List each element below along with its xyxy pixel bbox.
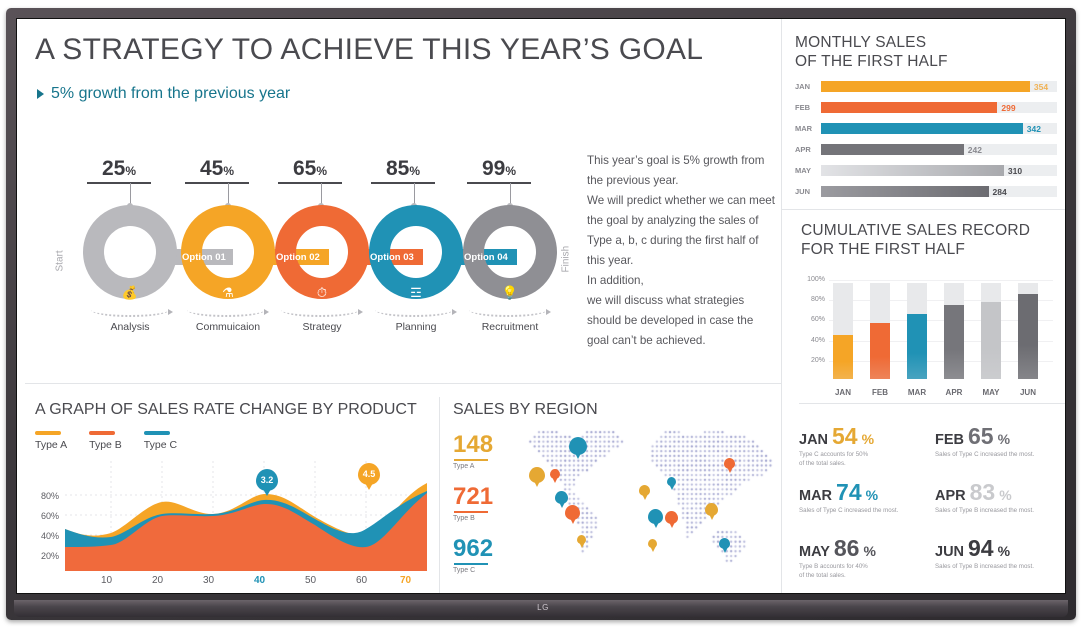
cumulative-sales-chart: 20%40%60%80%100%JANFEBMARAPRMAYJUN	[801, 267, 1059, 397]
sales-rate-chart-title: A GRAPH OF SALES RATE CHANGE BY PRODUCT	[35, 401, 417, 419]
map-pin-icon[interactable]	[648, 509, 663, 524]
cumulative-ytick: 80%	[801, 296, 825, 303]
monthly-sales-row[interactable]: JUN284	[795, 184, 1057, 198]
stat-note: Sales of Type B increased the most.	[935, 563, 1063, 572]
flask-icon: ⚗	[218, 285, 238, 301]
stat-header: FEB65%	[935, 425, 1063, 448]
legend-swatch-type-c	[144, 431, 170, 435]
divider-horizontal-right-top	[781, 209, 1065, 210]
monthly-sales-title-line1: MONTHLY SALES	[795, 33, 926, 52]
monthly-sales-value: 284	[993, 187, 1007, 197]
legend-item-type-b: Type B	[89, 431, 122, 451]
process-percent-value-0: 25	[102, 157, 125, 180]
stat-percent: 65	[968, 425, 994, 448]
process-finish-label: Finish	[561, 237, 572, 273]
process-percent-0: 25%	[87, 157, 151, 184]
marker-bubble-type-a: 4.5	[358, 463, 380, 485]
monthly-sales-value: 242	[968, 145, 982, 155]
subtitle-text: 5% growth from the previous year	[51, 85, 290, 103]
area-xtick-10: 10	[101, 575, 112, 586]
cumulative-column[interactable]	[981, 283, 1001, 379]
cumulative-xtick: APR	[940, 388, 968, 397]
process-arc-3	[375, 303, 453, 317]
monthly-sales-bar-fill	[821, 165, 1004, 176]
monthly-sales-month-label: JAN	[795, 82, 821, 91]
map-pin-icon[interactable]	[648, 539, 657, 548]
process-infographic: Start Finish 25% 45% 65% 85%	[35, 139, 585, 359]
percent-stem-3	[414, 183, 415, 205]
sales-rate-marker-3-2: 3.2	[256, 469, 278, 495]
stat-percent-sign: %	[999, 487, 1011, 503]
stat-card-jun[interactable]: JUN94%Sales of Type B increased the most…	[935, 537, 1063, 572]
cumulative-column-fill	[981, 302, 1001, 379]
description-paragraph: This year’s goal is 5% growth from the p…	[587, 151, 777, 351]
cumulative-xtick: MAY	[977, 388, 1005, 397]
process-arrow-2	[358, 309, 363, 315]
process-arc-4	[469, 303, 547, 317]
process-option-label-1: Option 01	[182, 252, 226, 263]
area-xtick-70: 70	[400, 575, 411, 586]
stat-percent-sign: %	[866, 487, 878, 503]
percent-rule-0	[87, 182, 151, 184]
monthly-sales-bar-fill	[821, 123, 1023, 134]
percent-sign-4: %	[505, 164, 516, 178]
percent-stem-4	[510, 183, 511, 205]
process-arrow-0	[168, 309, 173, 315]
subtitle-row: 5% growth from the previous year	[37, 85, 290, 103]
stat-percent-sign: %	[863, 543, 875, 559]
cumulative-column[interactable]	[833, 283, 853, 379]
sales-rate-marker-4-5: 4.5	[358, 463, 380, 489]
legend-label-type-a: Type A	[35, 439, 67, 451]
monthly-sales-row[interactable]: FEB299	[795, 100, 1057, 114]
monthly-sales-row[interactable]: APR242	[795, 142, 1057, 156]
region-rule-type-b	[454, 511, 488, 513]
cumulative-gridline	[829, 280, 1053, 281]
stat-card-feb[interactable]: FEB65%Sales of Type C increased the most…	[935, 425, 1063, 460]
stat-header: MAY86%	[799, 537, 927, 560]
money-bag-icon: 💰	[120, 285, 140, 301]
monthly-sales-track: 342	[821, 123, 1057, 134]
sales-by-region-title: SALES BY REGION	[453, 401, 598, 419]
sales-rate-legend: Type A Type B Type C	[35, 431, 177, 451]
stat-percent-sign: %	[862, 431, 874, 447]
monthly-stats-panel: JAN54%Type C accounts for 50% of the tot…	[789, 409, 1065, 593]
stat-card-jan[interactable]: JAN54%Type C accounts for 50% of the tot…	[799, 425, 927, 468]
page-title: A STRATEGY TO ACHIEVE THIS YEAR’S GOAL	[35, 33, 703, 67]
stat-note: Type B accounts for 40% of the total sal…	[799, 563, 927, 580]
process-percent-value-2: 65	[293, 157, 316, 180]
cumulative-xtick: JAN	[829, 388, 857, 397]
lg-logo: LG	[532, 601, 554, 614]
area-xtick-50: 50	[305, 575, 316, 586]
cumulative-column[interactable]	[944, 283, 964, 379]
cumulative-xtick: MAR	[903, 388, 931, 397]
monthly-sales-value: 342	[1027, 124, 1041, 134]
monthly-sales-value: 310	[1008, 166, 1022, 176]
map-pin-icon[interactable]	[555, 491, 568, 504]
region-type-label-a: Type A	[453, 463, 519, 470]
stat-note: Sales of Type C increased the most.	[799, 507, 927, 516]
monthly-sales-value: 354	[1034, 82, 1048, 92]
stat-note: Sales of Type C increased the most.	[935, 451, 1063, 460]
monthly-sales-value: 299	[1001, 103, 1015, 113]
marker-value-type-c: 3.2	[261, 475, 274, 485]
process-option-label-4: Option 04	[464, 252, 508, 263]
stat-month: MAY	[799, 544, 830, 560]
cumulative-column-fill	[1018, 294, 1038, 379]
stat-percent: 86	[834, 537, 860, 560]
monthly-sales-track: 284	[821, 186, 1057, 197]
cumulative-title-line2: FOR THE FIRST HALF	[801, 240, 965, 259]
cumulative-column-fill	[833, 335, 853, 379]
monthly-sales-row[interactable]: JAN354	[795, 79, 1057, 93]
stat-month: JUN	[935, 544, 964, 560]
stat-percent-sign: %	[998, 543, 1010, 559]
cumulative-ytick: 20%	[801, 357, 825, 364]
divider-horizontal-main	[25, 383, 781, 384]
monthly-sales-bar-fill	[821, 102, 997, 113]
marker-bubble-type-c: 3.2	[256, 469, 278, 491]
region-stat-type-b: 721 Type B	[453, 485, 519, 522]
region-type-label-b: Type B	[453, 515, 519, 522]
monthly-sales-title-line2: OF THE FIRST HALF	[795, 52, 948, 71]
monthly-sales-row[interactable]: MAY310	[795, 163, 1057, 177]
stat-note: Sales of Type B increased the most.	[935, 507, 1063, 516]
process-arc-0	[91, 303, 169, 317]
process-step-name-0: Analysis	[75, 321, 185, 333]
monthly-sales-month-label: FEB	[795, 103, 821, 112]
stat-month: APR	[935, 488, 966, 504]
region-stat-type-c: 962 Type C	[453, 537, 519, 574]
cumulative-title-line1: CUMULATIVE SALES RECORD	[801, 221, 1030, 240]
monthly-sales-panel: MONTHLY SALES OF THE FIRST HALF JAN354FE…	[789, 27, 1065, 207]
monthly-sales-month-label: APR	[795, 145, 821, 154]
percent-stem-0	[130, 183, 131, 205]
region-rule-type-c	[454, 563, 488, 565]
legend-swatch-type-b	[89, 431, 115, 435]
process-start-label: Start	[55, 238, 66, 272]
area-ytick-40: 40%	[29, 531, 59, 541]
monthly-sales-track: 242	[821, 144, 1057, 155]
monthly-sales-bar-fill	[821, 186, 989, 197]
cumulative-column-fill	[907, 314, 927, 379]
map-pin-icon[interactable]	[667, 477, 676, 486]
stat-card-may[interactable]: MAY86%Type B accounts for 40% of the tot…	[799, 537, 927, 580]
monthly-sales-bar-fill	[821, 144, 964, 155]
cumulative-column[interactable]	[1018, 283, 1038, 379]
process-arrow-1	[264, 309, 269, 315]
percent-sign-3: %	[409, 164, 420, 178]
percent-stem-2	[321, 183, 322, 205]
stat-header: MAR74%	[799, 481, 927, 504]
map-pin-icon[interactable]	[639, 485, 650, 496]
process-percent-4: 99%	[467, 157, 531, 184]
monthly-sales-month-label: JUN	[795, 187, 821, 196]
legend-swatch-type-a	[35, 431, 61, 435]
process-arrow-4	[546, 309, 551, 315]
cumulative-ytick: 60%	[801, 316, 825, 323]
cumulative-column-fill	[870, 323, 890, 379]
process-arc-2	[281, 303, 359, 317]
region-value-type-a: 148	[453, 433, 519, 457]
region-value-type-c: 962	[453, 537, 519, 561]
stat-percent: 94	[968, 537, 994, 560]
map-pin-icon[interactable]	[565, 505, 580, 520]
area-ytick-60: 60%	[29, 511, 59, 521]
process-arc-1	[187, 303, 265, 317]
map-pin-icon[interactable]	[569, 437, 587, 455]
map-pin-icon[interactable]	[719, 538, 730, 549]
cumulative-ytick: 40%	[801, 337, 825, 344]
area-ytick-80: 80%	[29, 491, 59, 501]
area-ytick-20: 20%	[29, 551, 59, 561]
monthly-sales-month-label: MAY	[795, 166, 821, 175]
cumulative-column[interactable]	[870, 283, 890, 379]
map-pin-icon[interactable]	[705, 503, 718, 516]
stat-percent: 83	[970, 481, 996, 504]
percent-rule-3	[371, 182, 435, 184]
legend-label-type-b: Type B	[89, 439, 122, 451]
percent-stem-1	[228, 183, 229, 205]
region-stat-type-a: 148 Type A	[453, 433, 519, 470]
stat-card-mar[interactable]: MAR74%Sales of Type C increased the most…	[799, 481, 927, 516]
percent-sign-0: %	[125, 164, 136, 178]
percent-rule-4	[467, 182, 531, 184]
stat-note: Type C accounts for 50% of the total sal…	[799, 451, 927, 468]
monthly-sales-track: 354	[821, 81, 1057, 92]
lightbulb-icon: 💡	[500, 285, 520, 301]
clock-icon: ⏱	[312, 285, 332, 301]
region-value-type-b: 721	[453, 485, 519, 509]
area-xtick-60: 60	[356, 575, 367, 586]
map-pin-icon[interactable]	[665, 511, 678, 524]
percent-rule-1	[185, 182, 249, 184]
process-percent-3: 85%	[371, 157, 435, 184]
process-percent-value-4: 99	[482, 157, 505, 180]
stat-month: JAN	[799, 432, 828, 448]
stat-header: JAN54%	[799, 425, 927, 448]
map-pin-icon[interactable]	[724, 458, 735, 469]
process-option-label-2: Option 02	[276, 252, 320, 263]
process-percent-value-3: 85	[386, 157, 409, 180]
process-percent-1: 45%	[185, 157, 249, 184]
divider-vertical-bottom	[439, 397, 440, 593]
process-option-label-3: Option 03	[370, 252, 414, 263]
stat-header: JUN94%	[935, 537, 1063, 560]
monthly-sales-month-label: MAR	[795, 124, 821, 133]
area-xtick-30: 30	[203, 575, 214, 586]
region-type-label-c: Type C	[453, 567, 519, 574]
cumulative-column[interactable]	[907, 283, 927, 379]
monthly-sales-track: 299	[821, 102, 1057, 113]
area-xtick-40: 40	[254, 575, 265, 586]
cumulative-sales-panel: CUMULATIVE SALES RECORD FOR THE FIRST HA…	[789, 215, 1065, 403]
map-pin-icon[interactable]	[550, 469, 560, 479]
cumulative-xtick: FEB	[866, 388, 894, 397]
legend-item-type-c: Type C	[144, 431, 177, 451]
process-percent-value-1: 45	[200, 157, 223, 180]
database-icon: ☲	[406, 285, 426, 301]
monitor-device: LG A STRATEGY TO ACHIEVE THIS YEAR’S GOA…	[0, 0, 1082, 642]
monthly-sales-bar-fill	[821, 81, 1030, 92]
process-step-name-4: Recruitment	[455, 321, 565, 333]
stat-percent: 54	[832, 425, 858, 448]
process-arrow-3	[452, 309, 457, 315]
stat-percent: 74	[836, 481, 862, 504]
cumulative-ytick: 100%	[801, 276, 825, 283]
region-rule-type-a	[454, 459, 488, 461]
monthly-sales-row[interactable]: MAR342	[795, 121, 1057, 135]
percent-sign-1: %	[223, 164, 234, 178]
dashboard-screen: A STRATEGY TO ACHIEVE THIS YEAR’S GOAL 5…	[17, 19, 1065, 593]
map-pin-icon[interactable]	[529, 467, 545, 483]
marker-value-type-a: 4.5	[363, 469, 376, 479]
stat-percent-sign: %	[998, 431, 1010, 447]
stat-month: MAR	[799, 488, 832, 504]
percent-sign-2: %	[316, 164, 327, 178]
divider-horizontal-right-bottom	[799, 403, 1065, 404]
stat-card-apr[interactable]: APR83%Sales of Type B increased the most…	[935, 481, 1063, 516]
legend-item-type-a: Type A	[35, 431, 67, 451]
monthly-sales-track: 310	[821, 165, 1057, 176]
legend-label-type-c: Type C	[144, 439, 177, 451]
sales-rate-chart-panel: A GRAPH OF SALES RATE CHANGE BY PRODUCT …	[27, 391, 439, 593]
stat-header: APR83%	[935, 481, 1063, 504]
world-map	[515, 425, 777, 587]
map-pin-icon[interactable]	[577, 535, 586, 544]
process-percent-2: 65%	[278, 157, 342, 184]
cumulative-xtick: JUN	[1014, 388, 1042, 397]
stat-month: FEB	[935, 432, 964, 448]
cumulative-column-fill	[944, 305, 964, 379]
sales-by-region-panel: SALES BY REGION 148 Type A 721 Type B 96…	[441, 391, 785, 593]
triangle-right-icon	[37, 89, 44, 99]
percent-rule-2	[278, 182, 342, 184]
area-xtick-20: 20	[152, 575, 163, 586]
dotted-world-map-canvas	[515, 425, 777, 587]
